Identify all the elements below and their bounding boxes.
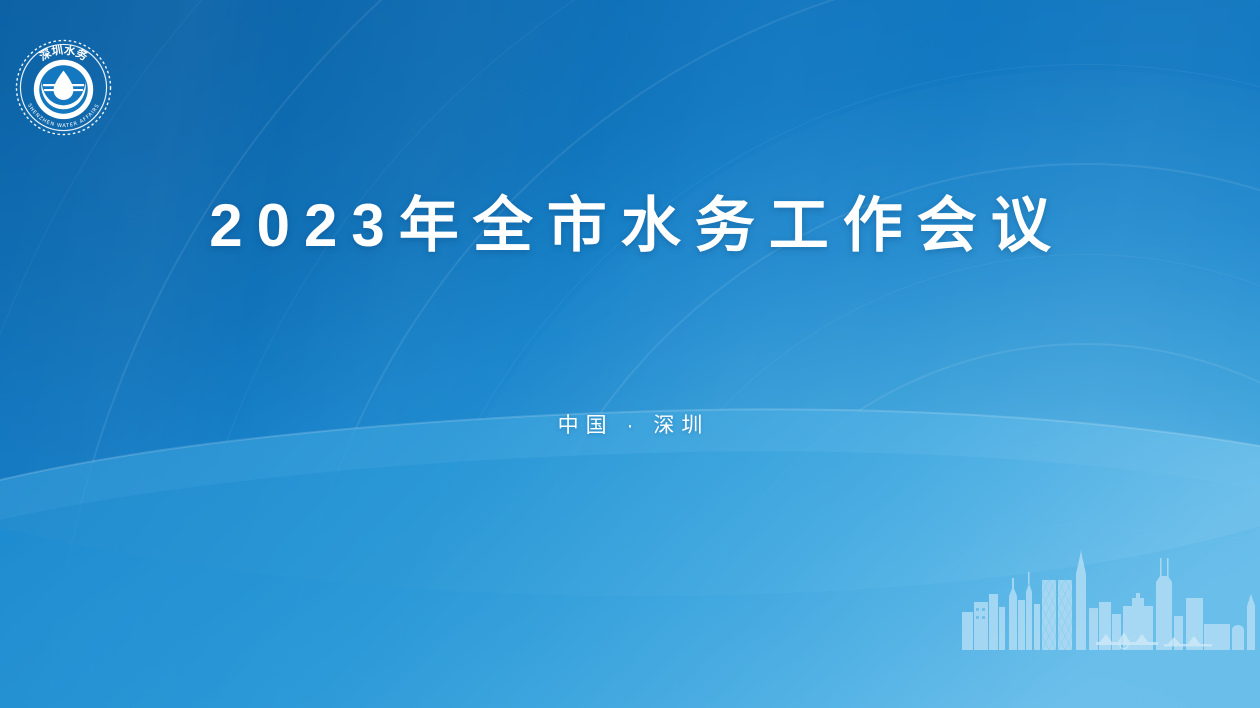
page-title: 2023年全市水务工作会议 [0,196,1260,256]
shenzhen-water-affairs-logo: 深圳水务 SHENZHEN WATER AFFAIRS [14,38,113,137]
subtitle-location: 中国 · 深圳 [0,415,1260,436]
shenzhen-skyline-silhouette [960,550,1260,650]
title-slide: 深圳水务 SHENZHEN WATER AFFAIRS 2023年全市水务工作会… [0,0,1260,708]
